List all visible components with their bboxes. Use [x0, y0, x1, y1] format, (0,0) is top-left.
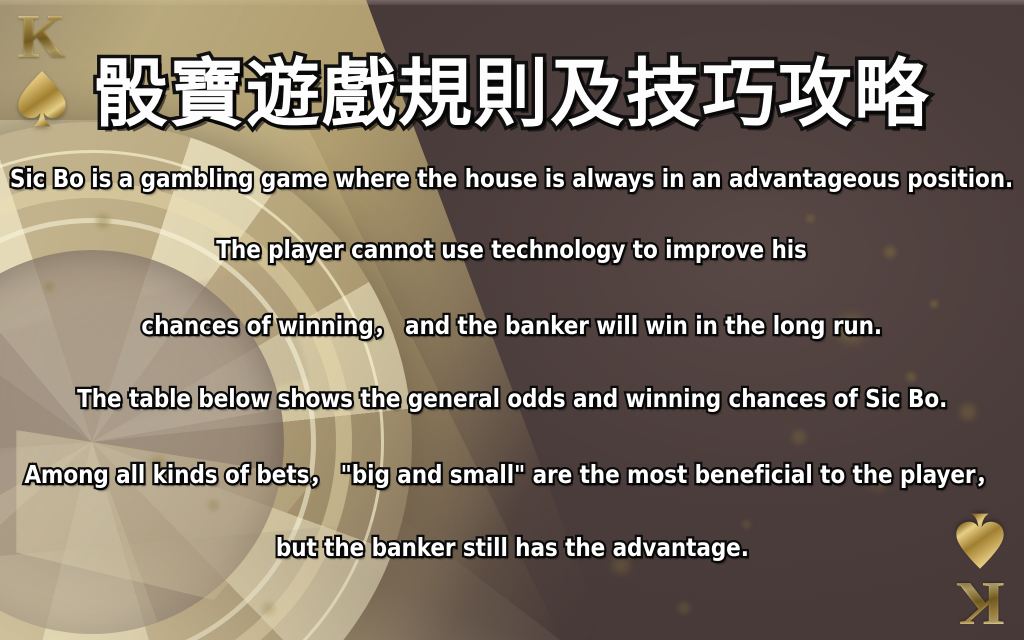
body-line: chances of winning， and the banker will … [142, 306, 883, 342]
sic-bo-rules-banner: K K [0, 0, 1024, 640]
page-title: 骰寶遊戲規則及技巧攻略 [94, 56, 930, 134]
body-line: Sic Bo is a gambling game where the hous… [10, 164, 1013, 193]
body-line: Among all kinds of bets， "big and small"… [24, 455, 999, 491]
body-line: but the banker still has the advantage. [275, 533, 748, 562]
body-line: The table below shows the general odds a… [77, 384, 947, 413]
body-line: The player cannot use technology to impr… [217, 235, 808, 264]
banner-content: 骰寶遊戲規則及技巧攻略 Sic Bo is a gambling game wh… [0, 0, 1024, 640]
body-text-block: Sic Bo is a gambling game where the hous… [0, 164, 1024, 562]
